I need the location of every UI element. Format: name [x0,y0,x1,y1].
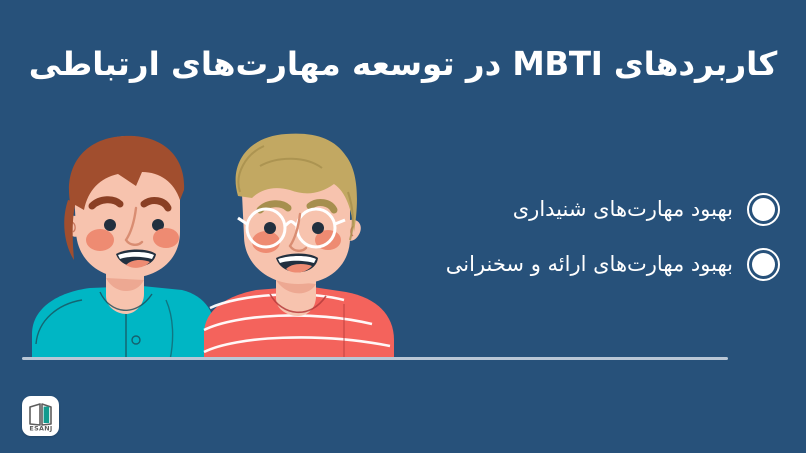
ring-bullet-dot [752,253,775,276]
ring-bullet-icon [747,248,780,281]
bullet-list: بهبود مهارت‌های شنیداری بهبود مهارت‌های … [360,193,780,303]
ring-bullet-icon [747,193,780,226]
left-person-group [32,136,216,360]
list-item[interactable]: بهبود مهارت‌های شنیداری [360,193,780,226]
svg-text:ESANJ: ESANJ [29,425,52,433]
esanj-logo[interactable]: ESANJ [22,396,59,436]
page-title: کاربردهای MBTI در توسعه مهارت‌های ارتباط… [28,44,778,85]
ring-bullet-dot [752,198,775,221]
slide-canvas: کاربردهای MBTI در توسعه مهارت‌های ارتباط… [0,0,806,453]
horizontal-divider [22,357,728,360]
bullet-label: بهبود مهارت‌های شنیداری [513,195,733,223]
esanj-book-logo-icon: ESANJ [26,400,56,432]
two-men-talking-illustration [14,128,414,360]
bullet-label: بهبود مهارت‌های ارائه و سخنرانی [446,250,733,278]
illustration-svg [14,128,414,360]
list-item[interactable]: بهبود مهارت‌های ارائه و سخنرانی [360,248,780,281]
